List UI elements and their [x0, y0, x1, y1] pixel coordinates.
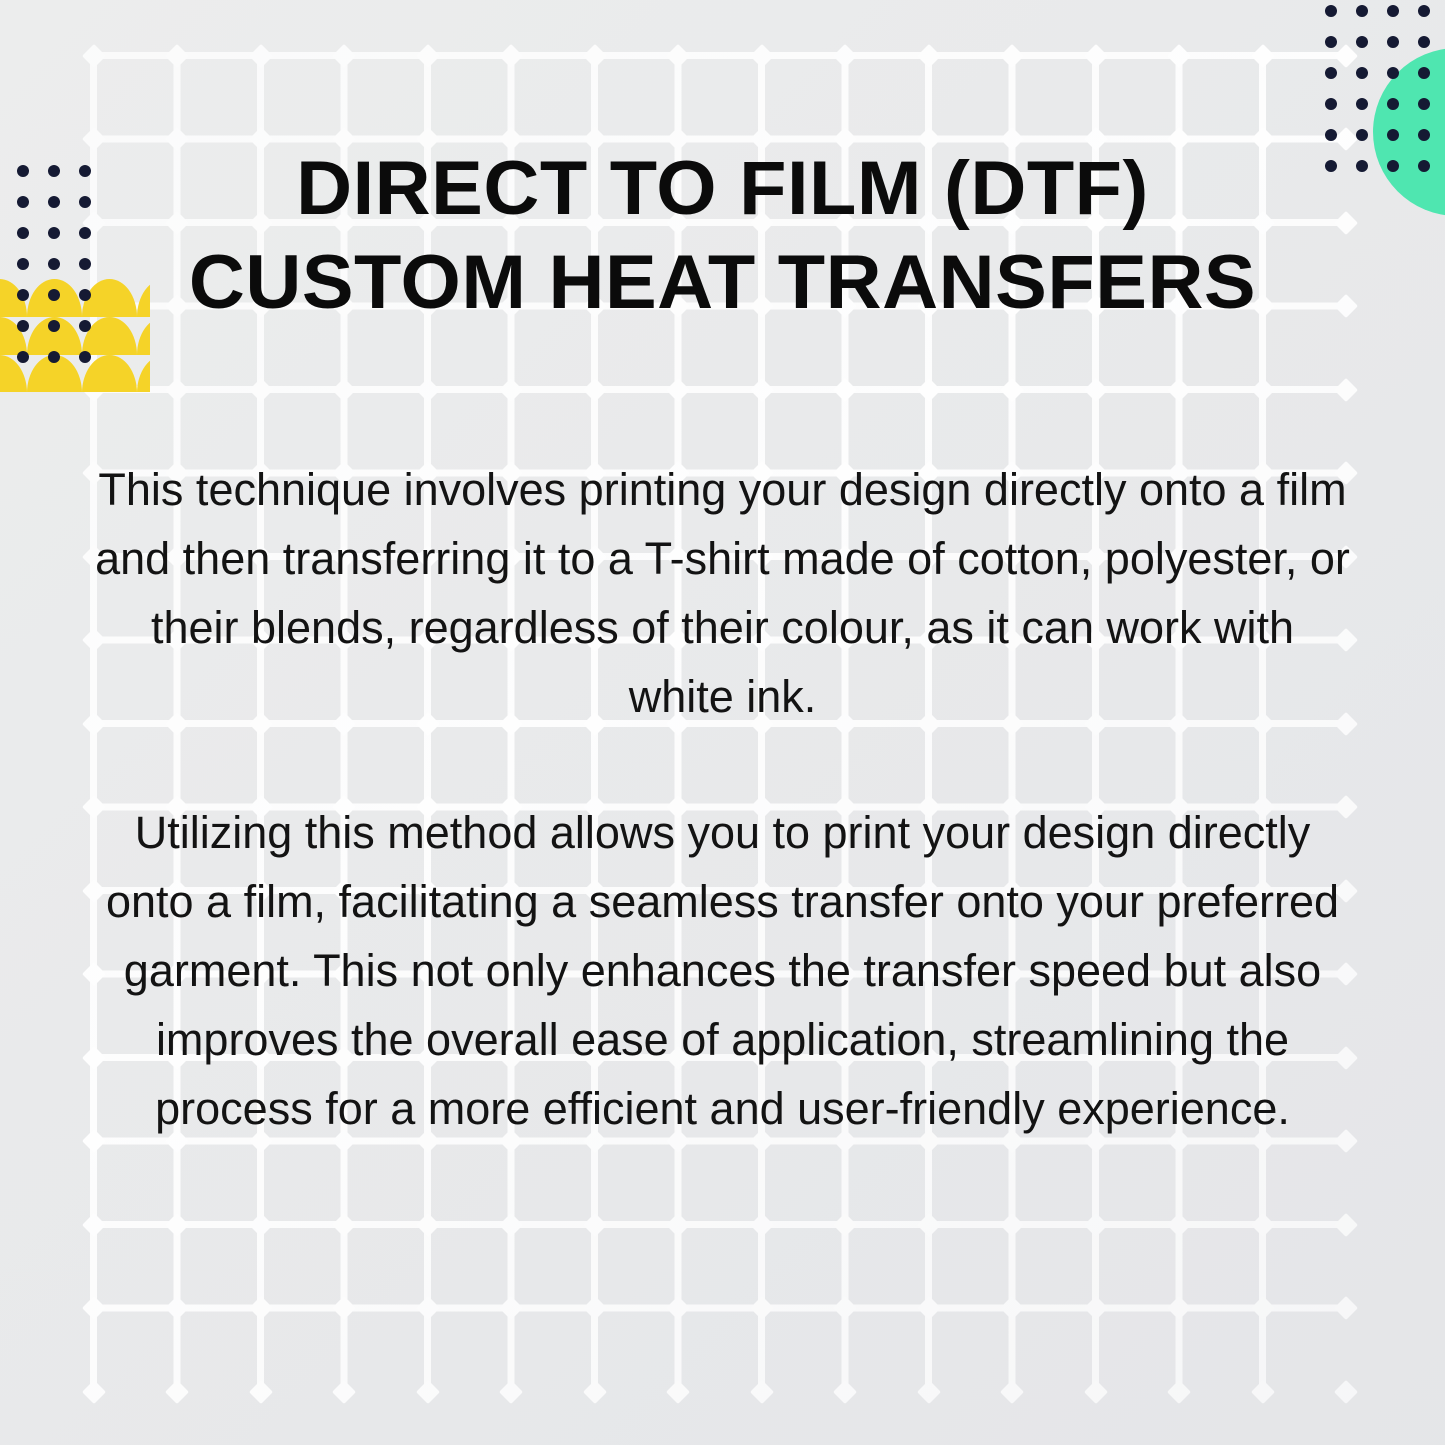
grid-diamond	[833, 1296, 857, 1320]
decorative-dot	[79, 351, 91, 363]
grid-diamond	[165, 1379, 189, 1403]
grid-diamond	[165, 1212, 189, 1236]
grid-diamond	[415, 1296, 439, 1320]
grid-diamond	[582, 377, 606, 401]
grid-diamond	[916, 1212, 940, 1236]
grid-diamond	[1334, 1212, 1358, 1236]
grid-diamond	[749, 1296, 773, 1320]
grid-diamond	[1334, 1379, 1358, 1403]
grid-diamond	[666, 1296, 690, 1320]
decorative-dot	[1418, 36, 1430, 48]
grid-diamond	[415, 377, 439, 401]
decorative-dot	[1356, 129, 1368, 141]
decorative-dot	[17, 351, 29, 363]
decorative-dot	[1387, 98, 1399, 110]
grid-diamond	[1083, 43, 1107, 67]
grid-diamond	[916, 1296, 940, 1320]
grid-diamond	[248, 1212, 272, 1236]
grid-diamond	[332, 377, 356, 401]
decorative-dot	[1387, 67, 1399, 79]
grid-diamond	[1167, 1212, 1191, 1236]
grid-diamond	[582, 1296, 606, 1320]
grid-diamond	[1167, 1379, 1191, 1403]
decorative-dot	[1418, 98, 1430, 110]
grid-diamond	[248, 1296, 272, 1320]
grid-diamond	[332, 43, 356, 67]
decorative-dot	[1356, 5, 1368, 17]
grid-diamond	[248, 43, 272, 67]
grid-diamond	[165, 43, 189, 67]
grid-diamond	[582, 43, 606, 67]
grid-diamond	[1083, 377, 1107, 401]
grid-diamond	[81, 1379, 105, 1403]
grid-diamond	[1083, 1379, 1107, 1403]
grid-diamond	[1250, 1212, 1274, 1236]
grid-diamond	[165, 377, 189, 401]
grid-diamond	[1334, 377, 1358, 401]
grid-diamond	[1000, 1212, 1024, 1236]
grid-diamond	[1250, 377, 1274, 401]
grid-diamond	[833, 1212, 857, 1236]
decorative-dot	[1418, 5, 1430, 17]
grid-diamond	[1334, 43, 1358, 67]
grid-diamond	[1334, 1296, 1358, 1320]
grid-diamond	[499, 43, 523, 67]
grid-diamond	[916, 1379, 940, 1403]
decorative-dot	[1418, 67, 1430, 79]
grid-diamond	[332, 1379, 356, 1403]
grid-diamond	[666, 1379, 690, 1403]
grid-diamond	[916, 43, 940, 67]
promo-graphic-canvas: DIRECT TO FILM (DTF) CUSTOM HEAT TRANSFE…	[0, 0, 1445, 1445]
body-paragraph-1: This technique involves printing your de…	[95, 455, 1350, 731]
grid-diamond	[415, 1379, 439, 1403]
grid-diamond	[248, 1379, 272, 1403]
decorative-dot	[1325, 5, 1337, 17]
decorative-dot	[1356, 98, 1368, 110]
grid-diamond	[1167, 377, 1191, 401]
grid-diamond	[332, 1212, 356, 1236]
decorative-dot	[1387, 5, 1399, 17]
title-line-1: DIRECT TO FILM (DTF)	[0, 142, 1445, 236]
decorative-dot	[48, 351, 60, 363]
grid-diamond	[1000, 377, 1024, 401]
page-title: DIRECT TO FILM (DTF) CUSTOM HEAT TRANSFE…	[0, 142, 1445, 330]
grid-diamond	[749, 377, 773, 401]
grid-diamond	[248, 377, 272, 401]
body-paragraph-2: Utilizing this method allows you to prin…	[95, 798, 1350, 1143]
grid-diamond	[499, 377, 523, 401]
decorative-dot	[1418, 129, 1430, 141]
grid-diamond	[499, 1296, 523, 1320]
grid-diamond	[1167, 43, 1191, 67]
grid-diamond	[1250, 43, 1274, 67]
grid-diamond	[1250, 1296, 1274, 1320]
grid-diamond	[81, 43, 105, 67]
grid-diamond	[749, 43, 773, 67]
body-copy: This technique involves printing your de…	[95, 455, 1350, 1143]
grid-diamond	[1000, 1296, 1024, 1320]
grid-diamond	[833, 43, 857, 67]
grid-diamond	[833, 377, 857, 401]
decorative-dot	[1325, 98, 1337, 110]
grid-diamond	[582, 1212, 606, 1236]
grid-diamond	[1000, 1379, 1024, 1403]
grid-diamond	[165, 1296, 189, 1320]
decorative-dot	[1387, 36, 1399, 48]
grid-diamond	[81, 1296, 105, 1320]
grid-diamond	[582, 1379, 606, 1403]
grid-diamond	[833, 1379, 857, 1403]
grid-diamond	[749, 1212, 773, 1236]
grid-diamond	[415, 43, 439, 67]
grid-diamond	[415, 1212, 439, 1236]
decorative-dot	[1325, 129, 1337, 141]
grid-diamond	[916, 377, 940, 401]
yellow-arch	[82, 355, 137, 392]
grid-diamond	[1083, 1296, 1107, 1320]
grid-diamond	[1083, 1212, 1107, 1236]
grid-diamond	[332, 1296, 356, 1320]
decorative-dot	[1325, 36, 1337, 48]
grid-diamond	[666, 1212, 690, 1236]
grid-diamond	[1250, 1379, 1274, 1403]
grid-diamond	[1000, 43, 1024, 67]
grid-diamond	[81, 1212, 105, 1236]
title-line-2: CUSTOM HEAT TRANSFERS	[0, 236, 1445, 330]
grid-diamond	[666, 377, 690, 401]
decorative-dot	[1356, 67, 1368, 79]
grid-diamond	[1167, 1296, 1191, 1320]
grid-diamond	[749, 1379, 773, 1403]
grid-diamond	[499, 1379, 523, 1403]
decorative-dot	[1387, 129, 1399, 141]
decorative-dot	[1325, 67, 1337, 79]
grid-diamond	[666, 43, 690, 67]
decorative-dot	[1356, 36, 1368, 48]
yellow-arch	[137, 355, 150, 392]
grid-diamond	[499, 1212, 523, 1236]
